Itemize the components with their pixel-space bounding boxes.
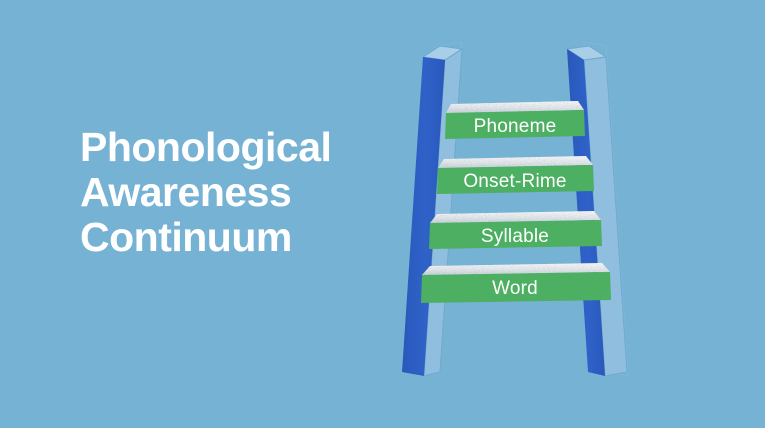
ladder-step-phoneme[interactable]: Phoneme	[445, 101, 585, 139]
ladder-step-onset-rime[interactable]: Onset-Rime	[437, 156, 594, 194]
ladder-step-word[interactable]: Word	[421, 263, 611, 303]
ladder-step-label: Syllable	[481, 226, 549, 247]
slide-canvas: Phonological Awareness Continuum	[0, 0, 765, 428]
ladder-step-label: Word	[492, 278, 538, 299]
ladder-step-label: Phoneme	[474, 116, 557, 137]
ladder-rail-left	[402, 46, 462, 376]
ladder-illustration: Phoneme Onset-Rime Syllable Word	[0, 0, 765, 428]
ladder-step-label: Onset-Rime	[463, 171, 566, 192]
ladder-rail-right	[567, 46, 627, 376]
ladder-step-syllable[interactable]: Syllable	[429, 211, 602, 249]
